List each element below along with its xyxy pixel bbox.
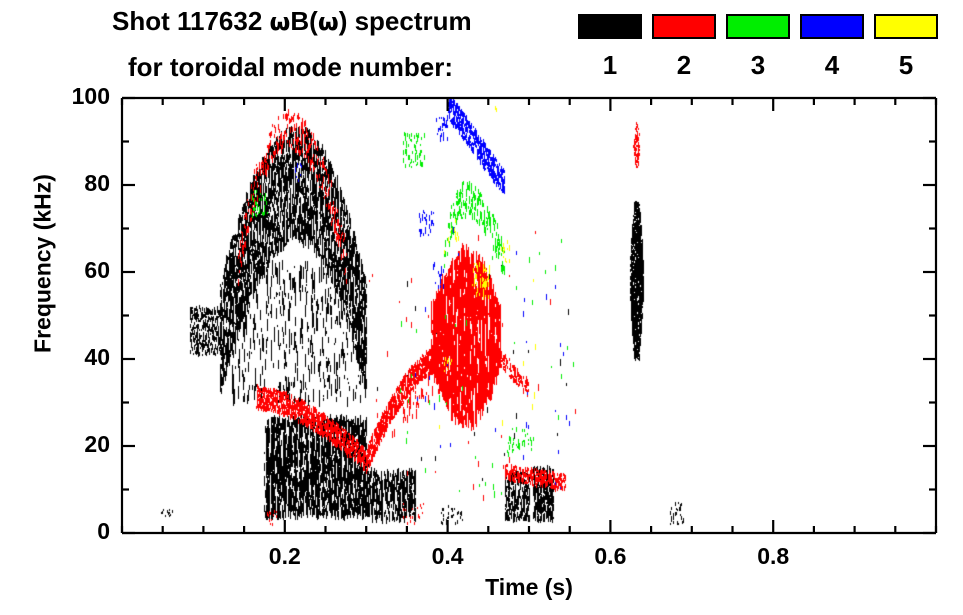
legend-swatch-1 <box>578 14 642 39</box>
legend-label-3: 3 <box>726 50 790 81</box>
spectrogram-figure: Shot 117632 ωB(ω) spectrum for toroidal … <box>0 0 963 615</box>
y-tick-label: 60 <box>30 257 110 284</box>
legend-swatch-3 <box>726 14 790 39</box>
legend-label-1: 1 <box>578 50 642 81</box>
legend-entry-4: 4 <box>800 0 866 96</box>
legend-swatch-5 <box>874 14 938 39</box>
page-subtitle: for toroidal mode number: <box>128 52 453 83</box>
page-title: Shot 117632 ωB(ω) spectrum <box>112 6 472 37</box>
x-tick-label: 0.8 <box>733 543 813 570</box>
y-tick-label: 0 <box>30 518 110 545</box>
y-tick-label: 100 <box>30 83 110 110</box>
x-tick-label: 0.6 <box>570 543 650 570</box>
plot-area <box>122 98 936 533</box>
legend-entry-5: 5 <box>874 0 940 96</box>
legend-swatch-2 <box>652 14 716 39</box>
legend-label-4: 4 <box>800 50 864 81</box>
title-text-prefix: Shot 117632 <box>112 6 270 36</box>
y-tick-label: 40 <box>30 344 110 371</box>
y-tick-label: 80 <box>30 170 110 197</box>
omega-symbol-2: ω <box>318 8 339 36</box>
title-text-suffix: ) spectrum <box>339 6 472 36</box>
legend: 12345 <box>578 0 958 96</box>
legend-entry-3: 3 <box>726 0 792 96</box>
legend-swatch-4 <box>800 14 864 39</box>
x-tick-label: 0.2 <box>245 543 325 570</box>
x-axis-label: Time (s) <box>122 574 936 601</box>
legend-label-5: 5 <box>874 50 938 81</box>
omega-symbol-1: ω <box>270 8 291 36</box>
title-text-mid: B( <box>290 6 317 36</box>
legend-entry-2: 2 <box>652 0 718 96</box>
x-tick-label: 0.4 <box>408 543 488 570</box>
y-tick-label: 20 <box>30 431 110 458</box>
spectrogram-canvas <box>122 98 936 533</box>
legend-entry-1: 1 <box>578 0 644 96</box>
legend-label-2: 2 <box>652 50 716 81</box>
